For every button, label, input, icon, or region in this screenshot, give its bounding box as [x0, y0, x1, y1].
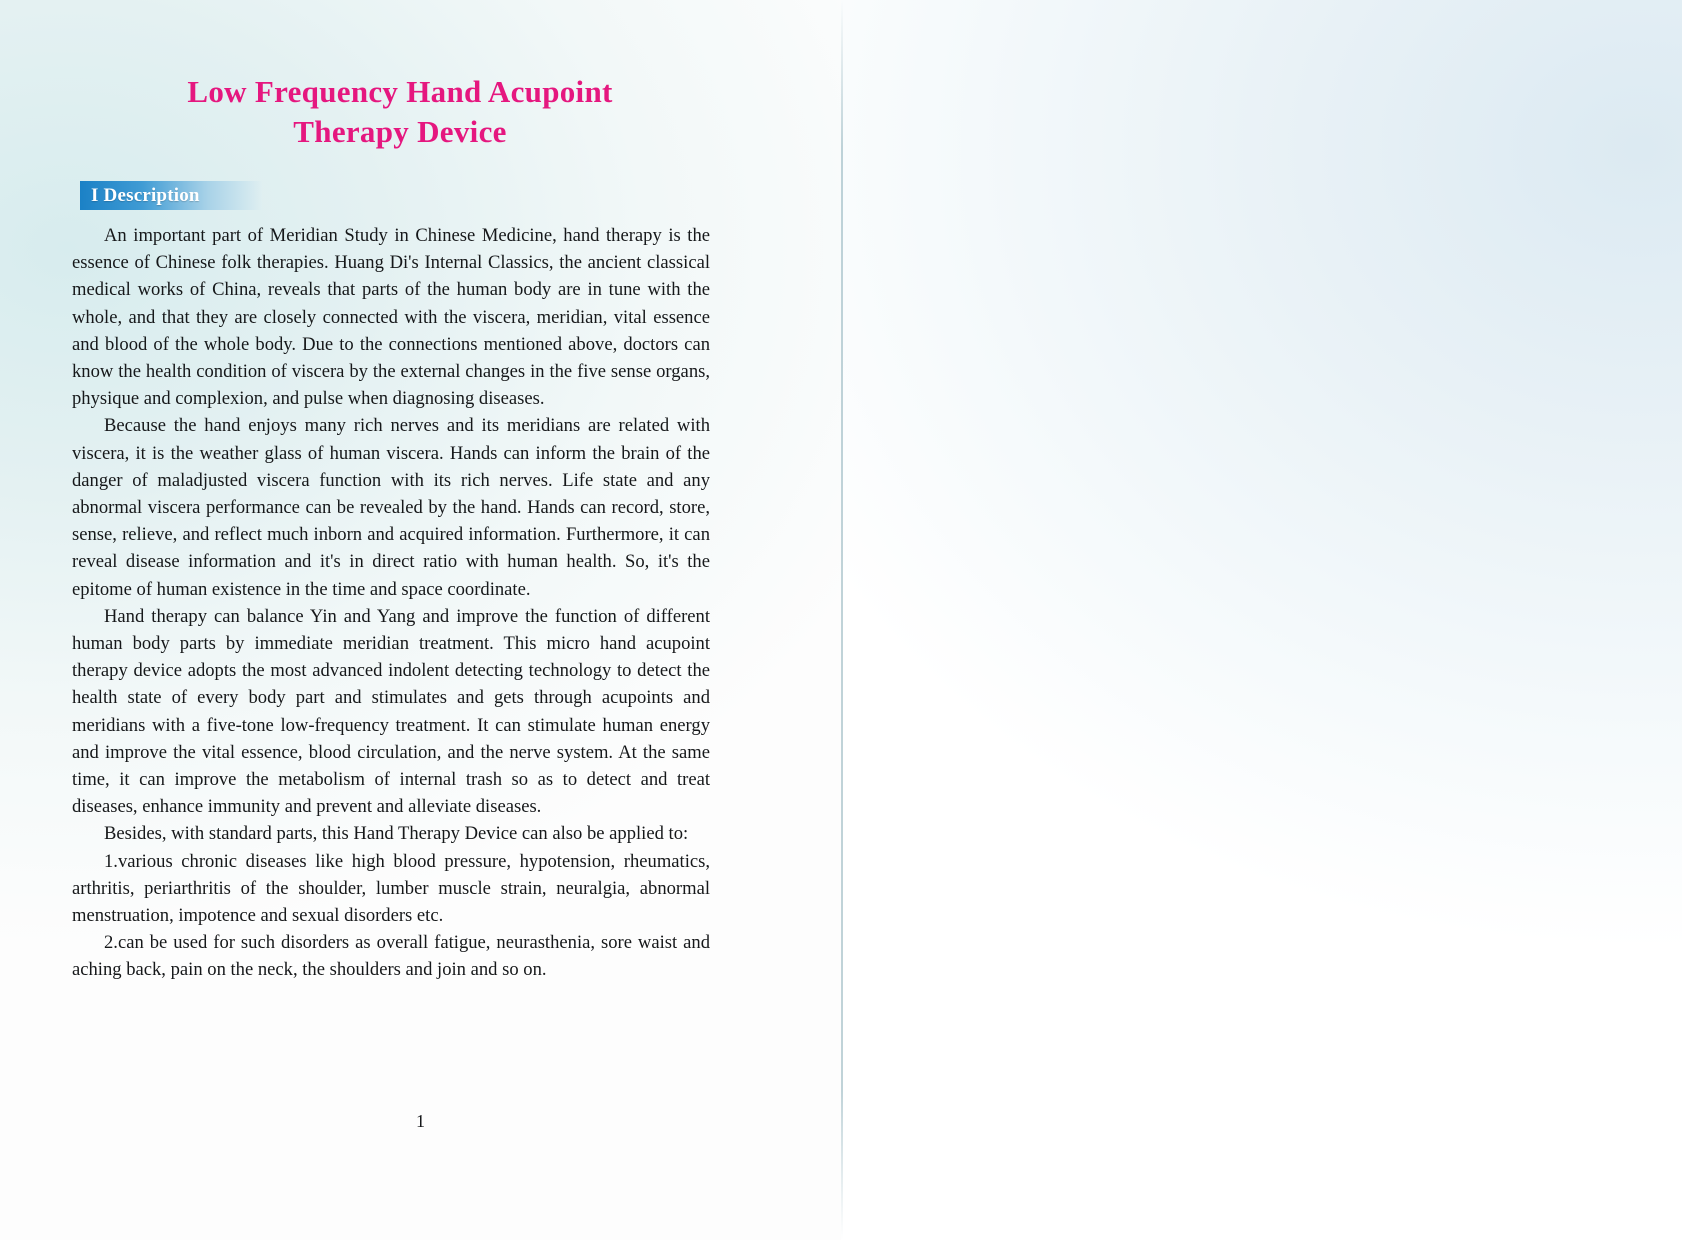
paragraph: Besides, with standard parts, this Hand …: [72, 820, 710, 847]
page-title-line-2: Therapy Device: [80, 112, 720, 152]
document-spread: Low Frequency Hand Acupoint Therapy Devi…: [0, 0, 1683, 1240]
page-title: Low Frequency Hand Acupoint Therapy Devi…: [80, 72, 720, 151]
description-body: An important part of Meridian Study in C…: [72, 222, 710, 984]
page-spine-divider: [841, 0, 843, 1240]
paragraph: Because the hand enjoys many rich nerves…: [72, 412, 710, 602]
paragraph: 1.various chronic diseases like high blo…: [72, 848, 710, 930]
paragraph: An important part of Meridian Study in C…: [72, 222, 710, 412]
section-header-description: I Description: [80, 181, 262, 210]
paragraph: 2.can be used for such disorders as over…: [72, 929, 710, 983]
page-number-left: 1: [0, 1111, 841, 1132]
right-page: II Product Sketch: [841, 0, 1682, 1240]
paragraph: Hand therapy can balance Yin and Yang an…: [72, 603, 710, 821]
left-page: Low Frequency Hand Acupoint Therapy Devi…: [0, 0, 841, 1240]
page-title-line-1: Low Frequency Hand Acupoint: [80, 72, 720, 112]
